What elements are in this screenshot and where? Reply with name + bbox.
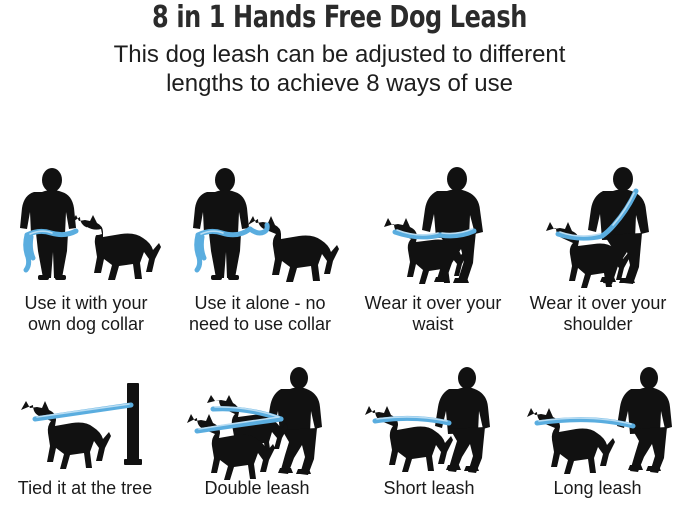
panel-short-leash: Short leash (346, 365, 512, 515)
panel-caption: Wear it over your waist (350, 293, 516, 335)
panel-caption: Double leash (172, 478, 342, 499)
illustration-standing-person-leash-around-dog-neck (174, 165, 346, 290)
panel-double-leash: Double leash (172, 365, 342, 515)
panel-row-top: Use it with your own dog collar (0, 165, 679, 345)
illustration-walking-person-dog-long-leash (516, 365, 679, 473)
caption-line-1: Short leash (346, 478, 512, 499)
panel-long-leash: Long leash (516, 365, 679, 515)
panel-use-with-own-collar: Use it with your own dog collar (2, 165, 170, 345)
page-subtitle: This dog leash can be adjusted to differ… (0, 40, 679, 98)
illustration-walking-person-dog-short-leash (346, 365, 512, 473)
subtitle-line-1: This dog leash can be adjusted to differ… (0, 40, 679, 69)
illustration-dog-leashed-to-post (0, 365, 170, 475)
panel-caption: Use it with your own dog collar (2, 293, 170, 335)
panel-use-alone-no-collar: Use it alone - no need to use collar (174, 165, 346, 345)
panel-caption: Wear it over your shoulder (518, 293, 678, 335)
panel-caption: Tied it at the tree (0, 478, 170, 499)
caption-line-2: own dog collar (2, 314, 170, 335)
caption-line-2: shoulder (518, 314, 678, 335)
caption-line-1: Use it with your (2, 293, 170, 314)
panel-wear-over-waist: Wear it over your waist (350, 165, 516, 345)
caption-line-1: Double leash (172, 478, 342, 499)
caption-line-1: Wear it over your (350, 293, 516, 314)
caption-line-2: need to use collar (174, 314, 346, 335)
caption-line-1: Use it alone - no (174, 293, 346, 314)
caption-line-1: Wear it over your (518, 293, 678, 314)
panel-caption: Short leash (346, 478, 512, 499)
product-infographic: 8 in 1 Hands Free Dog Leash This dog lea… (0, 0, 679, 520)
page-title: 8 in 1 Hands Free Dog Leash (68, 1, 611, 35)
illustration-walking-person-leash-at-waist (350, 165, 516, 290)
caption-line-1: Tied it at the tree (0, 478, 170, 499)
panel-caption: Long leash (516, 478, 679, 499)
illustration-standing-person-with-collared-dog (2, 165, 170, 290)
panel-wear-over-shoulder: Wear it over your shoulder (518, 165, 678, 345)
illustration-two-dogs-double-leash (172, 365, 342, 477)
caption-line-1: Long leash (516, 478, 679, 499)
subtitle-line-2: lengths to achieve 8 ways of use (0, 69, 679, 98)
caption-line-2: waist (350, 314, 516, 335)
illustration-walking-person-leash-across-shoulder (518, 165, 678, 290)
panel-tied-at-tree: Tied it at the tree (0, 365, 170, 515)
panel-row-bottom: Tied it at the tree (0, 365, 679, 515)
panel-caption: Use it alone - no need to use collar (174, 293, 346, 335)
